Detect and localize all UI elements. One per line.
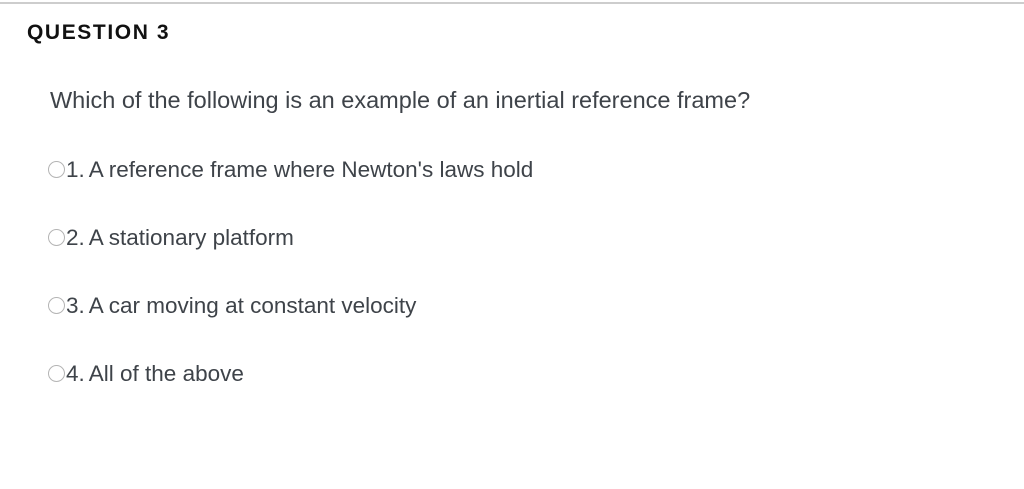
answer-option-number: 4.	[66, 359, 85, 389]
answer-option-number: 3.	[66, 291, 85, 321]
answer-option-4[interactable]: 4. All of the above	[48, 359, 988, 427]
answer-option-2[interactable]: 2. A stationary platform	[48, 223, 988, 291]
answer-option-label: 4. All of the above	[66, 359, 244, 389]
answer-option-number: 2.	[66, 223, 85, 253]
question-prompt: Which of the following is an example of …	[50, 84, 750, 116]
answer-option-text: A car moving at constant velocity	[89, 291, 417, 321]
answer-option-label: 1. A reference frame where Newton's laws…	[66, 155, 533, 185]
answer-option-text: A stationary platform	[89, 223, 294, 253]
answer-option-text: A reference frame where Newton's laws ho…	[89, 155, 534, 185]
radio-unselected-icon[interactable]	[48, 229, 65, 246]
answer-option-number: 1.	[66, 155, 85, 185]
top-divider	[0, 2, 1024, 4]
radio-unselected-icon[interactable]	[48, 297, 65, 314]
radio-unselected-icon[interactable]	[48, 365, 65, 382]
answer-option-1[interactable]: 1. A reference frame where Newton's laws…	[48, 155, 988, 223]
answer-option-text: All of the above	[89, 359, 244, 389]
answer-option-label: 3. A car moving at constant velocity	[66, 291, 416, 321]
question-page: QUESTION 3 Which of the following is an …	[0, 0, 1024, 489]
answer-option-3[interactable]: 3. A car moving at constant velocity	[48, 291, 988, 359]
answer-option-label: 2. A stationary platform	[66, 223, 294, 253]
radio-unselected-icon[interactable]	[48, 161, 65, 178]
answer-options-list: 1. A reference frame where Newton's laws…	[48, 155, 988, 427]
page-title: QUESTION 3	[27, 19, 170, 47]
